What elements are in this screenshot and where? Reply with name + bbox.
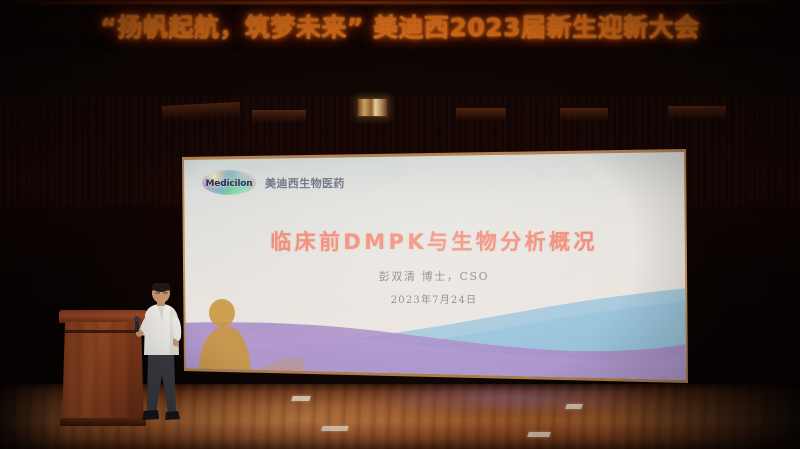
logo-wordmark: Medicilon	[206, 179, 253, 189]
slide-title: 临床前DMPK与生物分析概况	[178, 226, 690, 256]
lit-window	[357, 98, 388, 117]
led-banner: “扬帆起航，筑梦未来” 美迪西2023届新生迎新大会	[0, 0, 800, 50]
banner-text: “扬帆起航，筑梦未来” 美迪西2023届新生迎新大会	[100, 8, 699, 44]
screen-surface: Medicilon 美迪西生物医药 临床前DMPK与生物分析概况 彭双清 博士，…	[178, 143, 690, 389]
floor-marker-tape	[291, 396, 311, 401]
company-name-cn: 美迪西生物医药	[265, 175, 345, 191]
floor-marker-tape	[565, 404, 583, 409]
presentation-slide: Medicilon 美迪西生物医药 临床前DMPK与生物分析概况 彭双清 博士，…	[178, 143, 690, 389]
slide-logo: Medicilon 美迪西生物医药	[202, 170, 345, 195]
screenshot-root: “扬帆起航，筑梦未来” 美迪西2023届新生迎新大会 Medicilon	[0, 0, 800, 449]
floor-shadow-left	[0, 384, 70, 449]
speaker-person	[128, 283, 194, 426]
slide-presenter: 彭双清 博士，CSO	[178, 268, 690, 284]
medicilon-logo-icon: Medicilon	[202, 170, 256, 195]
projection-screen: Medicilon 美迪西生物医药 临床前DMPK与生物分析概况 彭双清 博士，…	[178, 143, 690, 389]
floor-marker-tape	[527, 432, 551, 437]
floor-shadow-right	[600, 384, 800, 449]
floor-marker-tape	[321, 426, 349, 431]
